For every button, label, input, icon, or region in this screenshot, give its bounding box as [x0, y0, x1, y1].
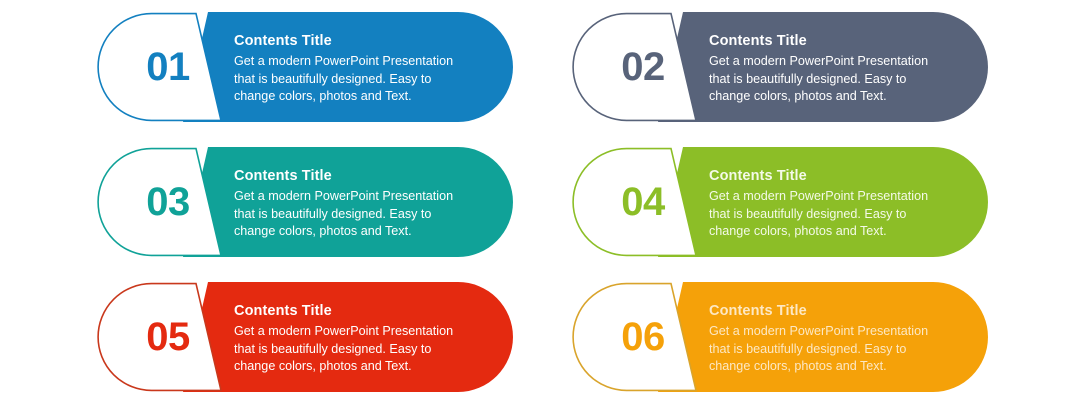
info-card-06[interactable]: 06 Contents Title Get a modern PowerPoin…: [570, 282, 988, 392]
card-body-06: Get a modern PowerPoint Presentation tha…: [709, 323, 971, 375]
card-body-05: Get a modern PowerPoint Presentation tha…: [234, 323, 496, 375]
card-title-06: Contents Title: [709, 302, 971, 320]
card-body-04: Get a modern PowerPoint Presentation tha…: [709, 188, 971, 240]
card-title-02: Contents Title: [709, 32, 971, 50]
info-card-03[interactable]: 03 Contents Title Get a modern PowerPoin…: [95, 147, 513, 257]
card-number-06: 06: [588, 282, 698, 392]
infographic-board: 01 Contents Title Get a modern PowerPoin…: [0, 0, 1080, 414]
card-body-02: Get a modern PowerPoint Presentation tha…: [709, 53, 971, 105]
card-title-04: Contents Title: [709, 167, 971, 185]
card-number-03: 03: [113, 147, 223, 257]
card-number-05: 05: [113, 282, 223, 392]
card-number-01: 01: [113, 12, 223, 122]
card-text-03: Contents Title Get a modern PowerPoint P…: [234, 167, 496, 240]
card-text-01: Contents Title Get a modern PowerPoint P…: [234, 32, 496, 105]
card-number-04: 04: [588, 147, 698, 257]
info-card-02[interactable]: 02 Contents Title Get a modern PowerPoin…: [570, 12, 988, 122]
card-body-01: Get a modern PowerPoint Presentation tha…: [234, 53, 496, 105]
info-card-04[interactable]: 04 Contents Title Get a modern PowerPoin…: [570, 147, 988, 257]
card-text-02: Contents Title Get a modern PowerPoint P…: [709, 32, 971, 105]
card-text-06: Contents Title Get a modern PowerPoint P…: [709, 302, 971, 375]
card-title-01: Contents Title: [234, 32, 496, 50]
card-title-03: Contents Title: [234, 167, 496, 185]
card-text-04: Contents Title Get a modern PowerPoint P…: [709, 167, 971, 240]
info-card-05[interactable]: 05 Contents Title Get a modern PowerPoin…: [95, 282, 513, 392]
info-card-01[interactable]: 01 Contents Title Get a modern PowerPoin…: [95, 12, 513, 122]
card-title-05: Contents Title: [234, 302, 496, 320]
card-body-03: Get a modern PowerPoint Presentation tha…: [234, 188, 496, 240]
card-number-02: 02: [588, 12, 698, 122]
card-text-05: Contents Title Get a modern PowerPoint P…: [234, 302, 496, 375]
